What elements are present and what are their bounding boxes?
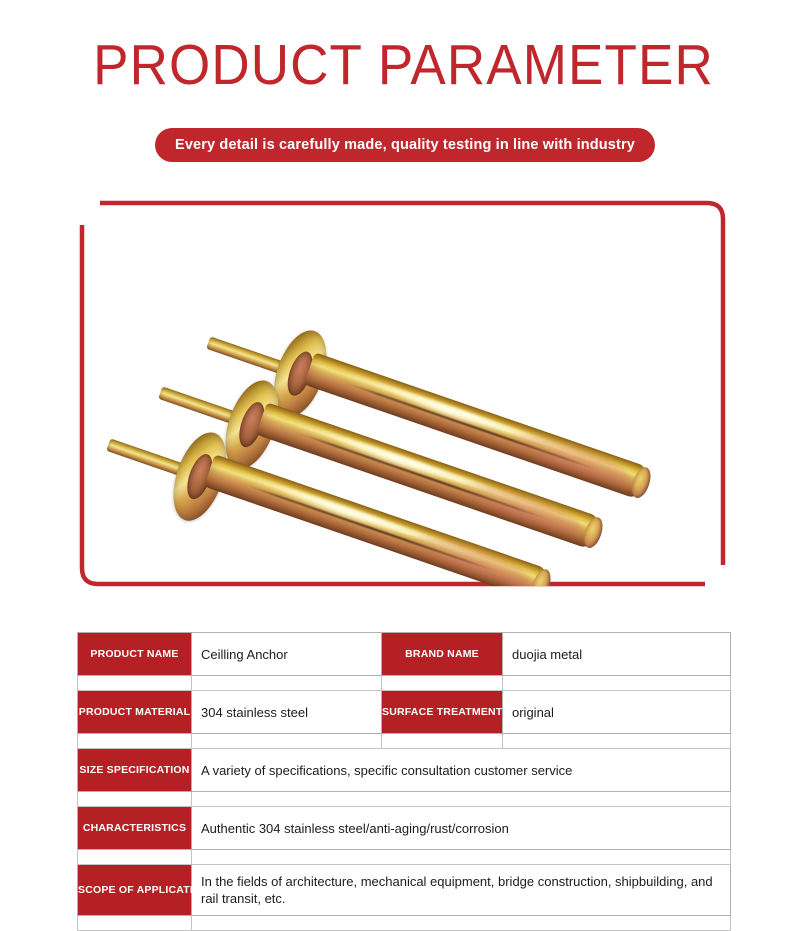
sleeve-end-cap [581,515,607,550]
spacer-cell [78,792,192,807]
spec-label: SCOPE OF APPLICATION [78,865,192,916]
spacer-cell [192,916,731,931]
spacer-cell [503,676,731,691]
subtitle-badge: Every detail is carefully made, quality … [155,128,655,162]
spec-value: duojia metal [503,633,731,676]
sleeve-end-cap [529,567,555,586]
spec-value: Ceilling Anchor [192,633,382,676]
table-row: PRODUCT NAME Ceilling Anchor BRAND NAME … [78,633,731,676]
spacer-cell [78,850,192,865]
spacer-cell [382,734,503,749]
page-title: PRODUCT PARAMETER [28,33,779,97]
table-spacer-row [78,916,731,931]
spacer-cell [192,850,731,865]
spacer-cell [382,676,503,691]
spacer-cell [78,734,192,749]
spacer-cell [78,676,192,691]
sleeve-iridescence [504,424,633,492]
spec-value: 304 stainless steel [192,691,382,734]
spec-label: SIZE SPECIFICATION [78,749,192,792]
spec-label: SURFACE TREATMENT [382,691,503,734]
product-photo [96,206,720,586]
sleeve-end-cap [629,465,655,500]
anchor-item [214,326,649,476]
sleeve-iridescence [404,526,533,586]
table-row: SCOPE OF APPLICATION In the fields of ar… [78,865,731,916]
subtitle-text: Every detail is carefully made, quality … [175,137,635,153]
table-spacer-row [78,676,731,691]
table-row: SIZE SPECIFICATION A variety of specific… [78,749,731,792]
table-row: CHARACTERISTICS Authentic 304 stainless … [78,807,731,850]
spacer-cell [503,734,731,749]
table-spacer-row [78,792,731,807]
spec-value: Authentic 304 stainless steel/anti-aging… [192,807,731,850]
spec-label: PRODUCT NAME [78,633,192,676]
spec-value: A variety of specifications, specific co… [192,749,731,792]
spec-value: In the fields of architecture, mechanica… [192,865,731,916]
spacer-cell [192,676,382,691]
spec-label: PRODUCT MATERIAL [78,691,192,734]
spec-table: PRODUCT NAME Ceilling Anchor BRAND NAME … [77,632,731,931]
table-spacer-row [78,850,731,865]
sleeve-iridescence [456,474,585,542]
spec-label: CHARACTERISTICS [78,807,192,850]
table-spacer-row [78,734,731,749]
spec-value: original [503,691,731,734]
spacer-cell [192,734,382,749]
spacer-cell [192,792,731,807]
spec-label: BRAND NAME [382,633,503,676]
table-row: PRODUCT MATERIAL 304 stainless steel SUR… [78,691,731,734]
spacer-cell [78,916,192,931]
